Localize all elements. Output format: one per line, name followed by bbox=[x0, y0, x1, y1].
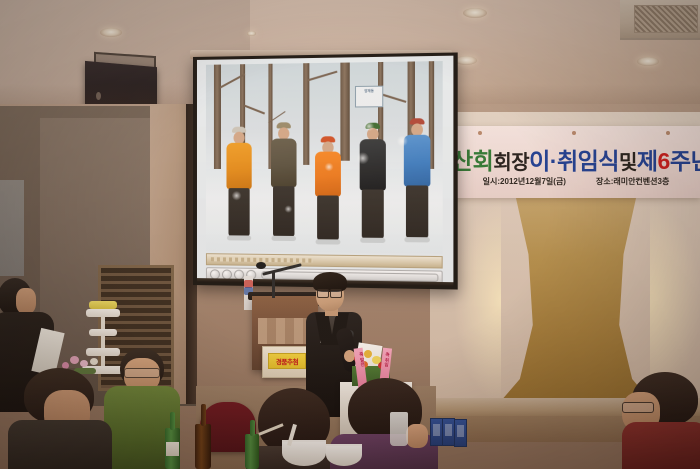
banner-anniversary-text: 주년 bbox=[670, 148, 700, 174]
audience-foreground-left bbox=[8, 368, 112, 469]
microphone-stand bbox=[272, 272, 275, 298]
banner-org-text: 산회 bbox=[452, 148, 493, 174]
banner-year-number: 6 bbox=[658, 148, 670, 174]
banner-role-text: 회장 bbox=[493, 152, 529, 174]
window-left bbox=[0, 180, 24, 276]
event-banner: 산회회장이·취임식및제6주년 일시:2012년12월7일(금) 장소:래미안컨벤… bbox=[452, 126, 700, 198]
hiker-4-jacket bbox=[360, 139, 386, 190]
microphone-head-icon bbox=[256, 262, 266, 269]
hiker-1-jacket bbox=[226, 143, 251, 189]
audience-fg-right-hand bbox=[406, 424, 428, 448]
audience-right-edge bbox=[622, 372, 700, 469]
beer-bottle[interactable] bbox=[195, 424, 211, 469]
hiker-5-boots bbox=[404, 237, 430, 242]
projector-screen-surface: 양재동 bbox=[197, 56, 453, 287]
hiker-1-boots bbox=[227, 235, 251, 240]
lens-flare-1 bbox=[232, 191, 241, 200]
hiker-2-boots bbox=[271, 236, 296, 241]
lens-flare-2 bbox=[325, 163, 333, 171]
cake-column-1 bbox=[101, 317, 105, 329]
downlight-4 bbox=[455, 56, 477, 65]
hiker-2-legs bbox=[273, 186, 294, 237]
audience-right-body bbox=[622, 422, 700, 469]
banner-date: 일시:2012년12월7일(금) bbox=[483, 176, 566, 187]
hiker-4-boots bbox=[360, 238, 385, 243]
ribbon-left-text: 축 발전 bbox=[355, 352, 366, 368]
banner-tack-right bbox=[666, 131, 670, 135]
cake-flower-2 bbox=[80, 360, 88, 367]
projected-photo: 양재동 bbox=[206, 61, 443, 254]
downlight-3 bbox=[463, 8, 487, 18]
downlight-2 bbox=[247, 31, 256, 36]
lens-flare-3 bbox=[357, 153, 369, 164]
gold-panel-glow-right bbox=[650, 200, 700, 400]
hiker-4-black bbox=[357, 120, 388, 246]
soju-bottle-1-label bbox=[166, 442, 179, 456]
banner-tack-mid bbox=[572, 131, 576, 135]
hiker-2-olive bbox=[268, 120, 299, 244]
branch-4 bbox=[380, 93, 407, 102]
hiker-2-jacket bbox=[271, 139, 297, 188]
slideshow-filmstrip-bar[interactable] bbox=[206, 253, 443, 268]
banner-ordinal-prefix: 제 bbox=[637, 148, 658, 174]
banner-tack-left bbox=[478, 131, 482, 135]
banner-conj-text: 및 bbox=[619, 152, 637, 174]
lens-flare-5 bbox=[397, 136, 408, 146]
downlight-1 bbox=[100, 28, 122, 37]
audience-right-glasses bbox=[622, 402, 654, 413]
soju-bottle-1-neck bbox=[170, 412, 175, 430]
hiker-3-boots bbox=[316, 239, 341, 244]
hiker-4-legs bbox=[362, 189, 384, 238]
white-bowl-2 bbox=[326, 444, 362, 466]
hiker-5-jacket bbox=[404, 135, 431, 187]
cake-column-2 bbox=[101, 336, 105, 348]
lens-flare-4 bbox=[364, 122, 373, 131]
banner-ceremony-text: 이·취임식 bbox=[529, 148, 619, 174]
hiker-1-orange bbox=[224, 123, 254, 244]
audience-fg-left-body bbox=[8, 420, 112, 469]
cake-top-candles bbox=[89, 301, 117, 309]
cake-tier-2 bbox=[89, 329, 117, 336]
hiker-3-orange bbox=[313, 126, 342, 245]
banner-place: 장소:래미안컨벤션3층 bbox=[596, 176, 669, 187]
branch-3 bbox=[307, 71, 337, 81]
gift-box-3 bbox=[454, 419, 467, 447]
bloom-yellow-1 bbox=[364, 350, 372, 358]
gold-panel-glow-left bbox=[455, 200, 501, 400]
hiker-3-legs bbox=[317, 195, 339, 240]
cake-flower-4 bbox=[90, 358, 98, 365]
hiker-5-legs bbox=[406, 185, 428, 238]
ac-grille-icon bbox=[634, 5, 698, 33]
beer-bottle-neck bbox=[201, 404, 206, 426]
tree-1 bbox=[214, 65, 221, 186]
cake-flower-1 bbox=[70, 356, 79, 364]
ribbon-right-text: 축 취임 bbox=[380, 352, 390, 368]
branch-2 bbox=[244, 105, 265, 115]
banner-details: 일시:2012년12월7일(금) 장소:래미안컨벤션3층 bbox=[452, 176, 700, 187]
downlight-5 bbox=[637, 57, 659, 66]
lens-flare-6 bbox=[285, 205, 292, 212]
soju-bottle-2-neck bbox=[250, 420, 255, 436]
water-glass[interactable] bbox=[390, 412, 408, 446]
trail-sign: 양재동 bbox=[355, 86, 383, 108]
projector-screen: 양재동 bbox=[193, 52, 458, 289]
hiker-3-jacket bbox=[315, 152, 341, 197]
audience-left-face bbox=[16, 288, 36, 314]
speaker-glasses-bridge bbox=[318, 290, 343, 297]
banner-headline: 산회회장이·취임식및제6주년 bbox=[452, 142, 700, 176]
cake-tier-1 bbox=[86, 309, 120, 317]
audience-green-glasses bbox=[124, 368, 160, 378]
event-hall-photo: 산회회장이·취임식및제6주년 일시:2012년12월7일(금) 장소:래미안컨벤… bbox=[0, 0, 700, 469]
soju-bottle-2[interactable] bbox=[245, 434, 259, 469]
